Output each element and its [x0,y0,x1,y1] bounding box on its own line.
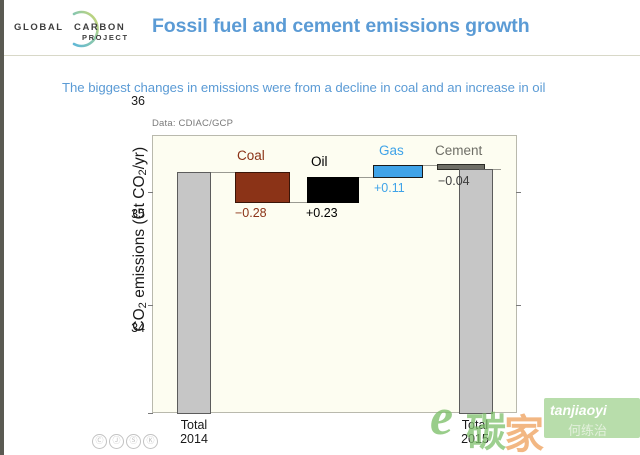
by-icon: Ⓙ [109,434,124,449]
series-label-oil: Oil [311,154,328,169]
watermark-subtext: 何练治 [568,420,607,439]
watermark-tag-background [544,398,640,438]
bar-oil [307,177,359,203]
y-tick-label-34: 34 [123,321,145,335]
logo-text-carbon: CARBON [74,22,125,33]
nc-icon: Ⓢ [126,434,141,449]
bar-gas [373,165,423,178]
connector-coal-oil [290,202,307,203]
bar-total-2014 [177,172,211,414]
cc-icon: Ⓒ [92,434,107,449]
chart-data-source: Data: CDIAC/GCP [152,118,233,129]
value-label-oil: +0.23 [306,206,338,220]
value-label-coal: −0.28 [235,206,267,220]
x-tick-total-2014-line2: 2014 [154,432,234,446]
y-tick-mark-36-right [516,192,521,193]
value-label-cement: −0.04 [438,174,470,188]
x-tick-total-2015-line2: 2015 [435,432,515,446]
value-label-gas: +0.11 [374,181,405,195]
series-label-gas: Gas [379,143,404,158]
page-title: Fossil fuel and cement emissions growth [152,15,530,38]
y-tick-mark-36-left [148,192,153,193]
connector-oil-gas [359,177,373,178]
global-carbon-project-logo: GLOBAL CARBON PROJECT [12,10,142,48]
logo-text-global: GLOBAL [14,22,64,33]
watermark-pinyin: tanjiaoyi [550,402,607,418]
connector-gas-cement [423,165,437,166]
y-tick-mark-35-right [516,305,521,306]
slide-root: GLOBAL CARBON PROJECT Fossil fuel and ce… [0,0,640,455]
slide-subtitle: The biggest changes in emissions were fr… [62,80,545,95]
series-label-cement: Cement [435,143,482,158]
bar-total-2015 [459,169,493,414]
slide-header: GLOBAL CARBON PROJECT Fossil fuel and ce… [4,0,640,56]
bar-coal [235,172,290,203]
y-tick-label-35: 35 [123,207,145,221]
x-tick-total-2015-line1: Total [435,418,515,432]
waterfall-chart: Data: CDIAC/GCP CO2 emissions (Gt CO2/yr… [82,118,522,438]
connector-total2014-coal [211,172,235,173]
x-tick-total-2014-line1: Total [154,418,234,432]
x-tick-label-total-2015: Total 2015 [435,418,515,446]
y-tick-mark-34-left [148,413,153,414]
creative-commons-license: Ⓒ Ⓙ Ⓢ Ⓚ [92,434,158,449]
plot-area: Coal Oil Gas Cement −0.28 +0.23 +0.11 −0… [152,135,517,413]
y-tick-mark-35-left [148,305,153,306]
logo-text-project: PROJECT [82,33,129,42]
series-label-coal: Coal [237,148,265,163]
y-tick-label-36: 36 [123,94,145,108]
x-tick-label-total-2014: Total 2014 [154,418,234,446]
sa-icon: Ⓚ [143,434,158,449]
